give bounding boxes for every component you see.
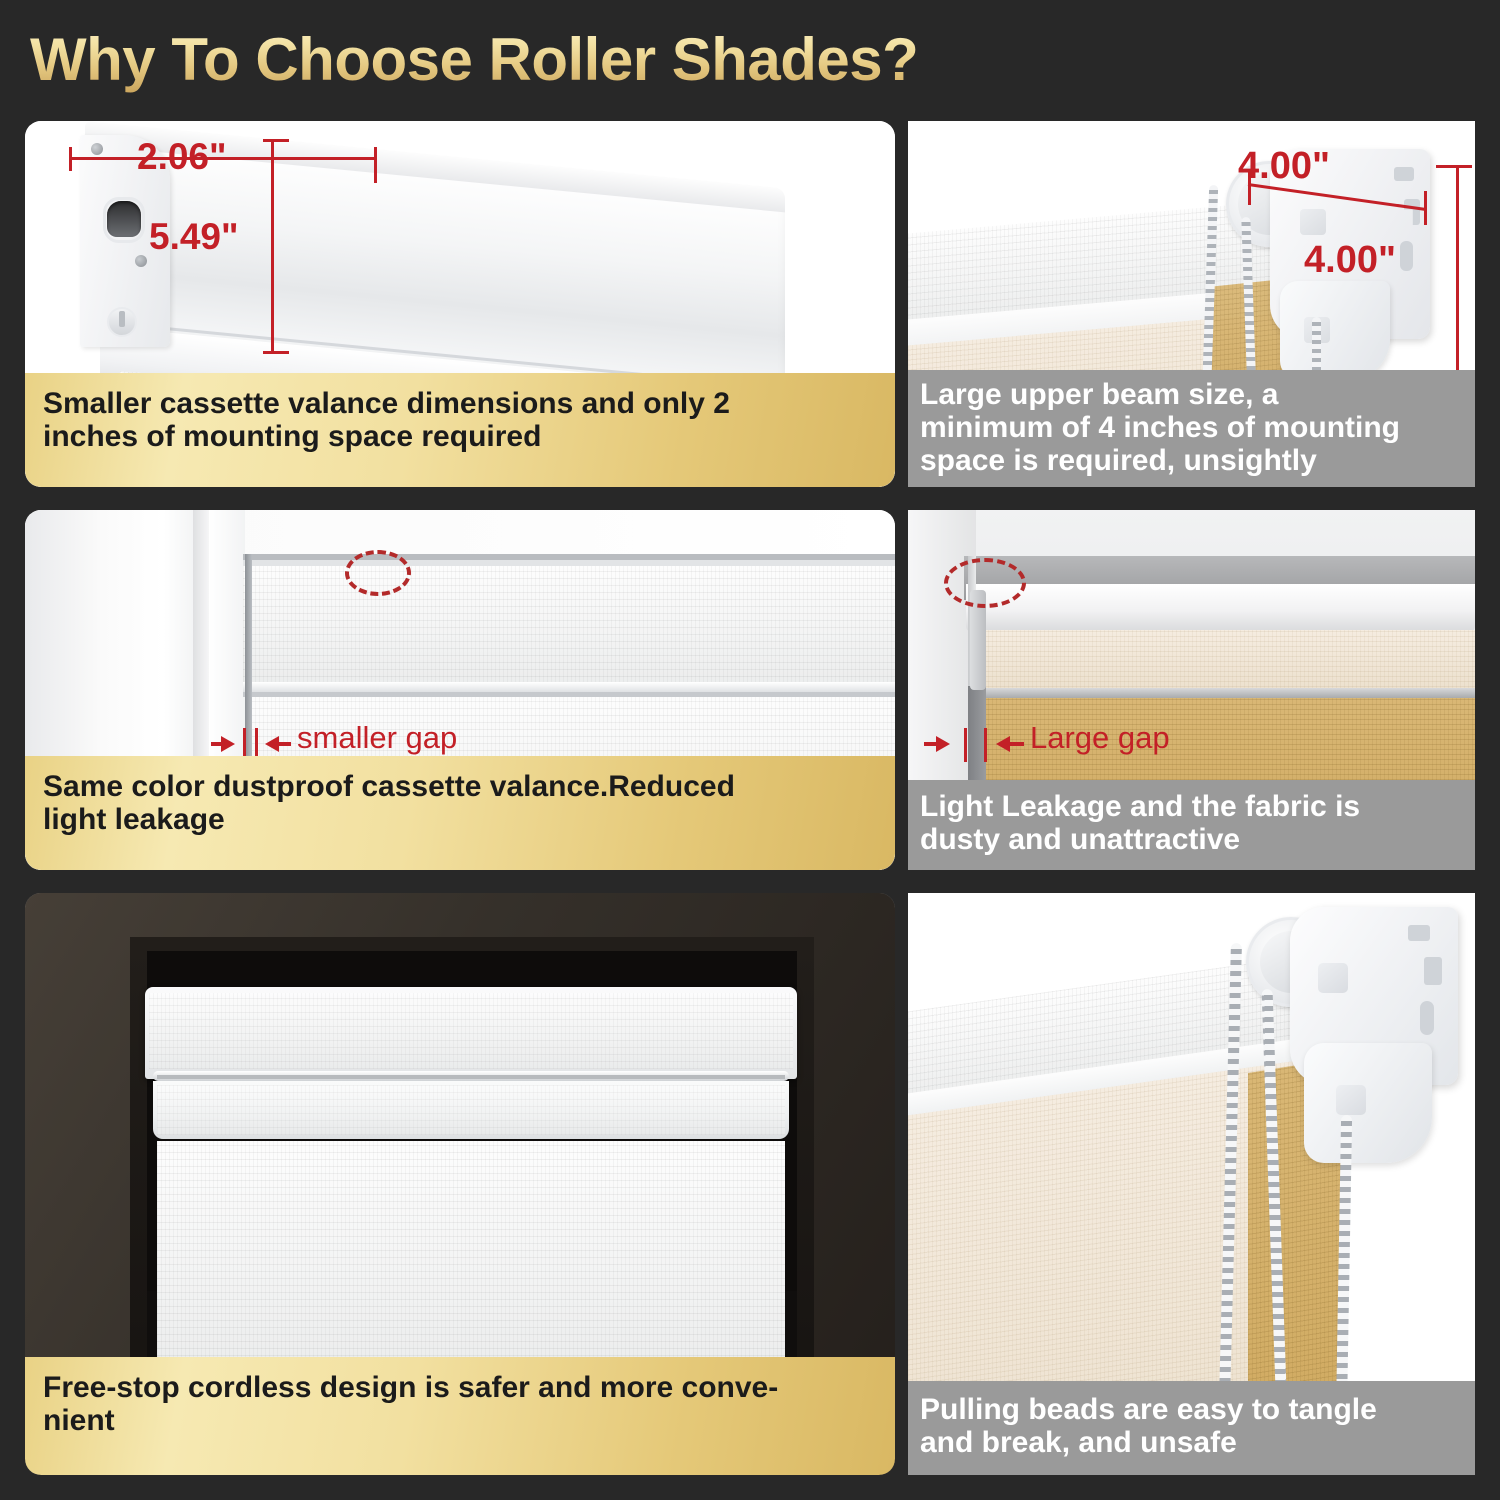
caption-dustproof-cassette-valance: Same color dustproof cassette valance.Re… (25, 756, 895, 870)
caption-line: inches of mounting space required (43, 420, 877, 453)
gap-callout-label: Large gap (1030, 720, 1170, 756)
panel-dustproof-cassette-valance: smaller gap Same color dustproof cassett… (25, 510, 895, 870)
caption-line: nient (43, 1404, 877, 1437)
panel-free-stop-cordless-design: Free-stop cordless design is safer and m… (25, 893, 895, 1475)
width-dimension-tick-right (374, 147, 377, 183)
screw-icon (91, 143, 103, 155)
gap-arrow-left-shaft (924, 742, 940, 746)
caption-line: space is required, unsightly (920, 444, 1463, 477)
caption-line: Pulling beads are easy to tangle (920, 1393, 1463, 1426)
caption-line: Free-stop cordless design is safer and m… (43, 1371, 877, 1404)
caption-line: and break, and unsafe (920, 1426, 1463, 1459)
caption-line: Light Leakage and the fabric is (920, 790, 1463, 823)
panel-large-upper-beam: 4.00" 4.00" Large upper beam size, a min… (908, 121, 1475, 487)
caption-pulling-beads-tangle: Pulling beads are easy to tangle and bre… (908, 1381, 1475, 1475)
caption-line: Large upper beam size, a (920, 378, 1463, 411)
height-dimension-tick-bottom (263, 351, 289, 354)
caption-line: Smaller cassette valance dimensions and … (43, 387, 877, 420)
height-dimension-tick-top (263, 139, 289, 142)
height-dimension-tick-top (1436, 165, 1472, 168)
caption-line: light leakage (43, 803, 877, 836)
page-title: Why To Choose Roller Shades? (30, 24, 1080, 96)
gap-arrow-right-shaft (277, 742, 291, 746)
gap-tick-left (964, 728, 967, 762)
width-dimension-label: 2.06" (137, 136, 227, 178)
gap-arrow-right-shaft (1008, 742, 1024, 746)
width-dimension-tick-left (69, 147, 72, 171)
screw-icon (135, 255, 147, 267)
gap-arrow-left-shaft (211, 742, 225, 746)
caption-line: Same color dustproof cassette valance.Re… (43, 770, 877, 803)
height-dimension-line (271, 139, 274, 354)
panel-cassette-valance-dimensions: 5.49" 2.06" Smaller cassette valance dim… (25, 121, 895, 487)
panel-pulling-beads-tangle: Pulling beads are easy to tangle and bre… (908, 893, 1475, 1475)
gap-callout-label: smaller gap (297, 720, 457, 756)
caption-line: minimum of 4 inches of mounting (920, 411, 1463, 444)
caption-line: dusty and unattractive (920, 823, 1463, 856)
highlight-circle (944, 558, 1026, 608)
height-dimension-label: 5.49" (149, 216, 239, 258)
caption-large-upper-beam: Large upper beam size, a minimum of 4 in… (908, 370, 1475, 487)
gap-tick-right (984, 728, 987, 762)
caption-cassette-valance-dimensions: Smaller cassette valance dimensions and … (25, 373, 895, 487)
panel-light-leakage-dusty-fabric: Large gap Light Leakage and the fabric i… (908, 510, 1475, 870)
width-dimension-tick-right (1424, 191, 1427, 225)
caption-free-stop-cordless-design: Free-stop cordless design is safer and m… (25, 1357, 895, 1475)
highlight-circle (345, 550, 411, 596)
height-dimension-label: 4.00" (1304, 239, 1396, 282)
caption-light-leakage-dusty-fabric: Light Leakage and the fabric is dusty an… (908, 780, 1475, 870)
width-dimension-label: 4.00" (1238, 145, 1330, 188)
